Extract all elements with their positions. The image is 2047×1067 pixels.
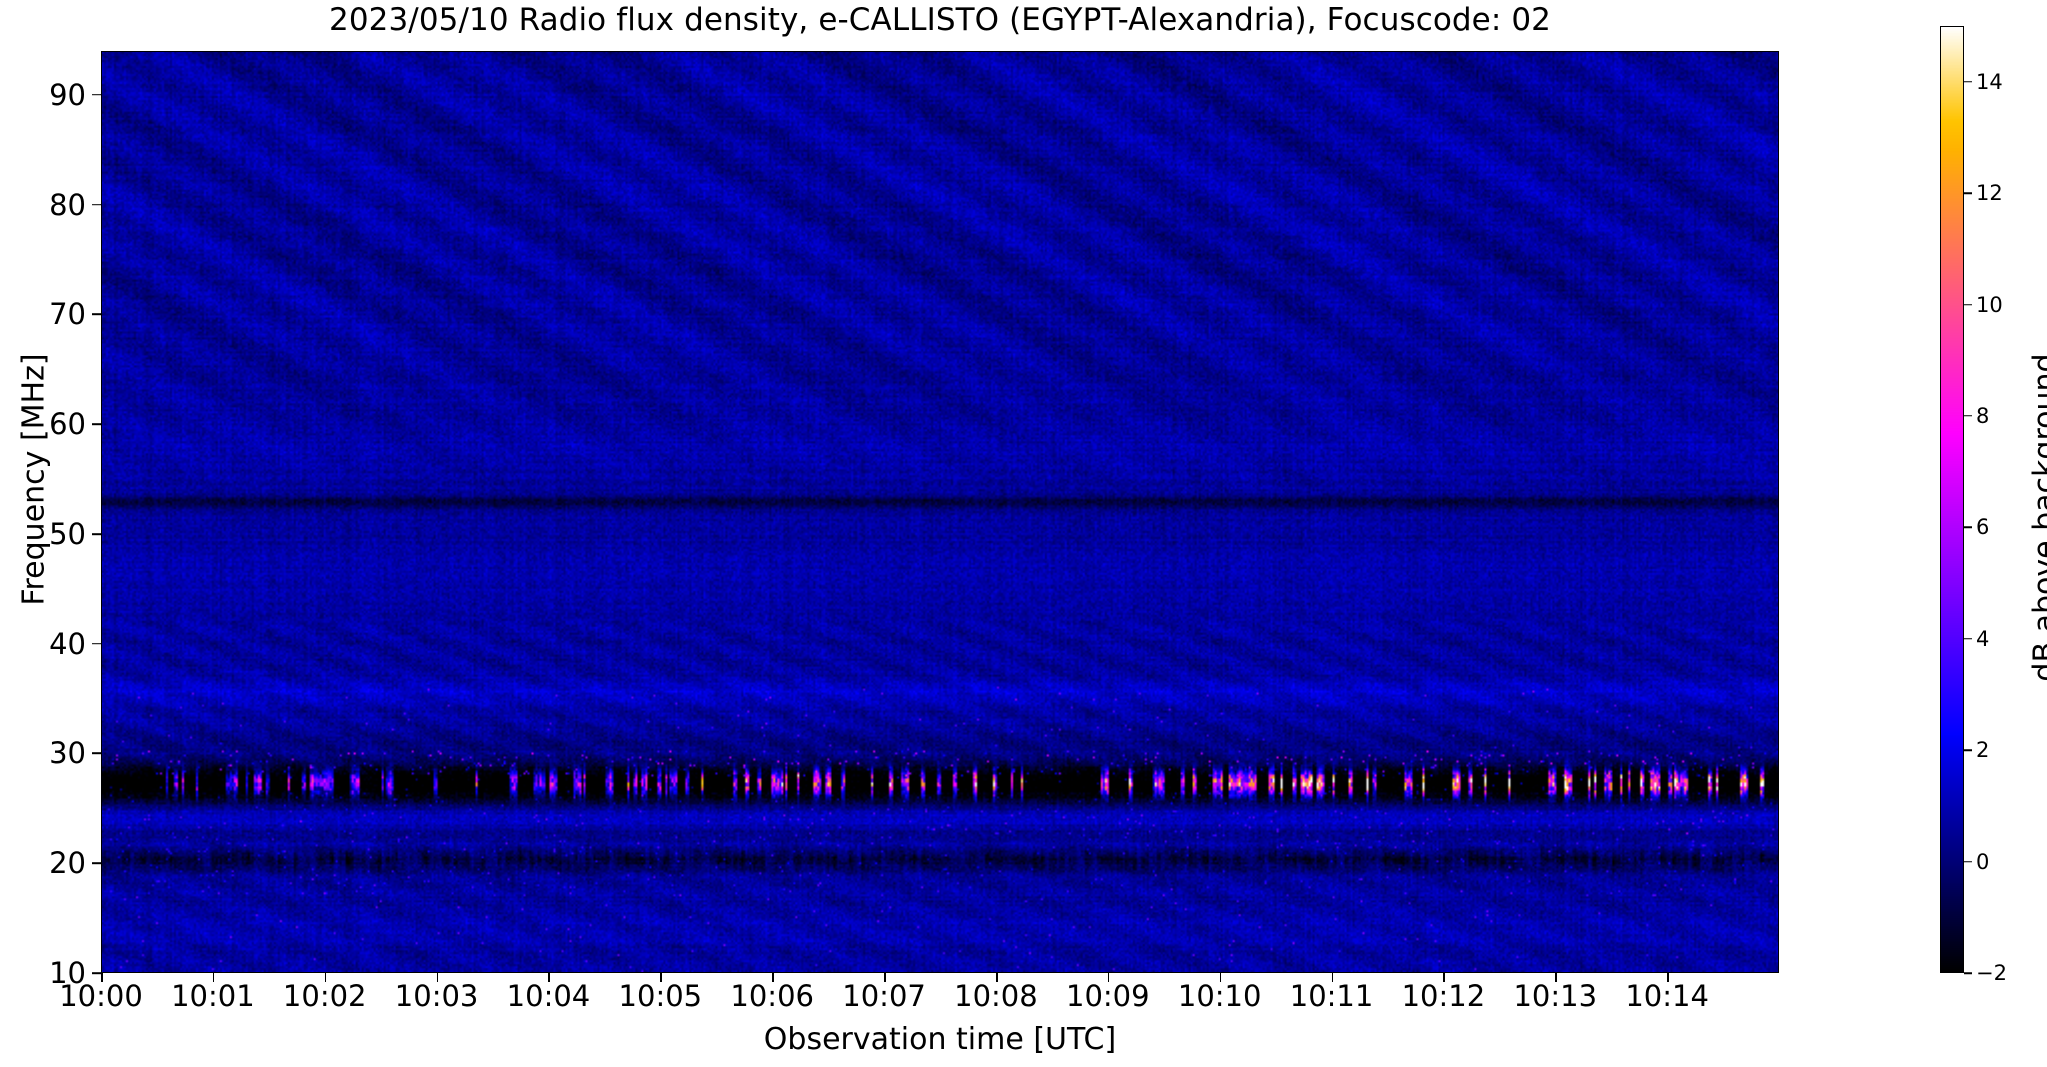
colorbar-label: dB above background [2028,238,2047,798]
colorbar-tick-mark [1964,861,1972,863]
x-tick-label: 10:05 [619,979,703,1013]
x-tick-label: 10:03 [395,979,479,1013]
y-tick-mark [92,204,101,206]
colorbar-tick-label: 6 [1976,515,1989,539]
colorbar-tick-label: 10 [1976,293,2003,317]
x-tick-label: 10:04 [507,979,591,1013]
colorbar-tick-label: 0 [1976,850,1989,874]
colorbar-tick-mark [1964,415,1972,417]
x-tick-label: 10:13 [1513,979,1597,1013]
y-tick-mark [92,533,101,535]
colorbar-tick-label: 4 [1976,627,1989,651]
y-tick-mark [92,753,101,755]
x-tick-label: 10:00 [59,979,143,1013]
figure-root: 2023/05/10 Radio flux density, e-CALLIST… [0,0,2047,1067]
x-tick-label: 10:10 [1178,979,1262,1013]
x-tick-label: 10:02 [283,979,367,1013]
x-tick-label: 10:11 [1290,979,1374,1013]
colorbar-tick-label: 8 [1976,404,1989,428]
x-axis-label: Observation time [UTC] [101,1022,1779,1057]
x-tick-label: 10:12 [1402,979,1486,1013]
colorbar-tick-mark [1964,749,1972,751]
y-tick-label: 30 [0,736,86,770]
colorbar-tick-mark [1964,638,1972,640]
y-tick-label: 90 [0,78,86,112]
colorbar-tick-mark [1964,81,1972,83]
x-tick-label: 10:06 [730,979,814,1013]
colorbar [1940,26,1964,973]
colorbar-tick-mark [1964,192,1972,194]
spectrogram-plot-area [101,51,1779,973]
y-tick-label: 20 [0,846,86,880]
colorbar-tick-label: −2 [1976,961,2007,985]
x-tick-label: 10:09 [1066,979,1150,1013]
y-tick-mark [92,862,101,864]
colorbar-tick-mark [1964,304,1972,306]
y-tick-mark [92,314,101,316]
x-tick-label: 10:07 [842,979,926,1013]
colorbar-tick-mark [1964,527,1972,529]
colorbar-canvas [1941,27,1963,972]
colorbar-tick-label: 2 [1976,738,1989,762]
colorbar-tick-mark [1964,972,1972,974]
y-tick-mark [92,643,101,645]
page-title: 2023/05/10 Radio flux density, e-CALLIST… [101,2,1779,38]
x-tick-label: 10:14 [1625,979,1709,1013]
y-tick-label: 80 [0,188,86,222]
y-tick-mark [92,94,101,96]
colorbar-tick-label: 12 [1976,181,2003,205]
x-tick-label: 10:01 [171,979,255,1013]
spectrogram-canvas [102,52,1778,972]
y-axis-label: Frequency [MHz] [17,220,52,740]
y-tick-mark [92,972,101,974]
y-tick-mark [92,423,101,425]
x-tick-label: 10:08 [954,979,1038,1013]
colorbar-tick-label: 14 [1976,70,2003,94]
